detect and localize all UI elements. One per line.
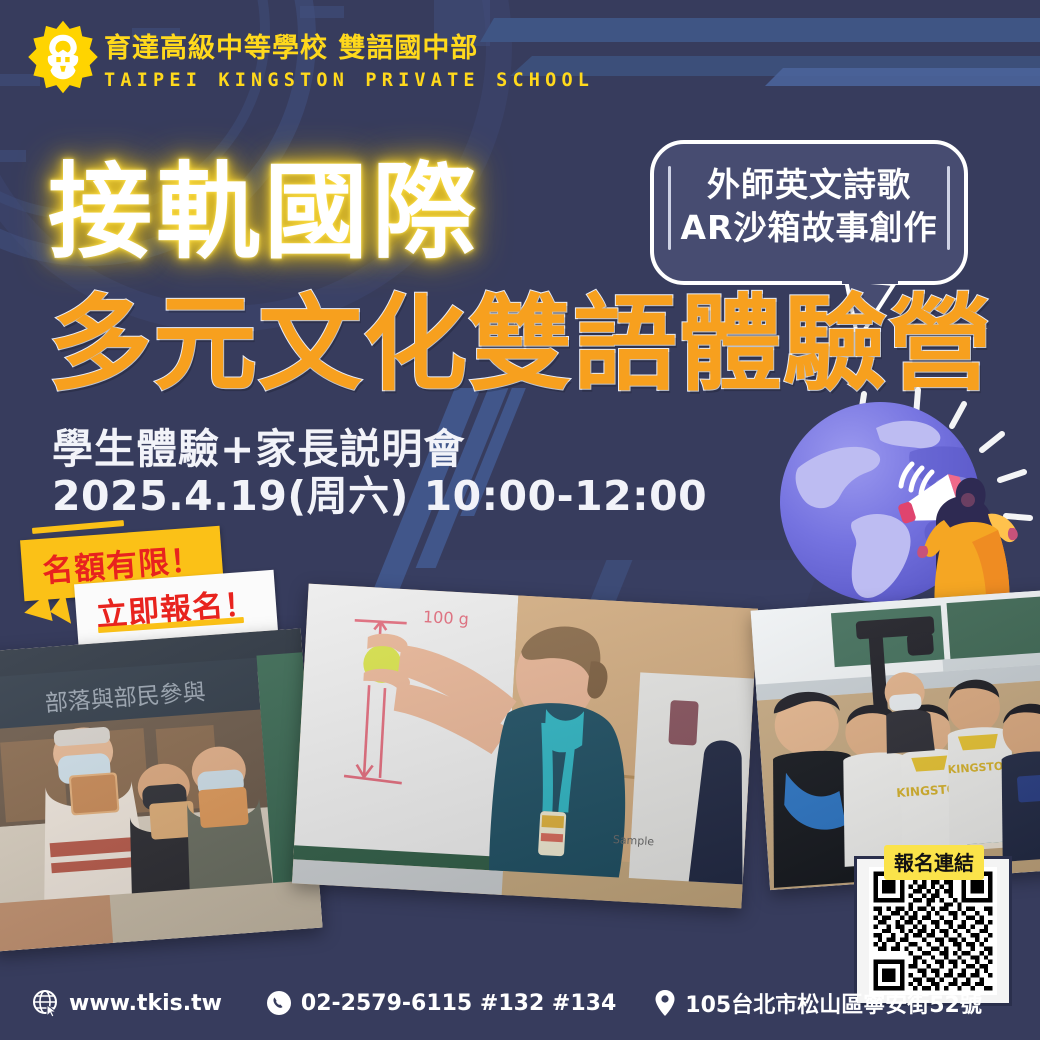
lion-crest-icon	[26, 20, 100, 94]
page-title-main: 接軌國際	[48, 160, 480, 264]
phone-icon	[266, 990, 292, 1016]
photo-foreign-teacher-science-demo: 100 g	[292, 584, 758, 909]
footer-contact-bar: www.tkis.tw 02-2579-6115 #132 #134 105台北…	[0, 966, 1040, 1040]
event-datetime-line: 2025.4.19(周六) 10:00-12:00	[52, 462, 707, 522]
footer-address-text: 105台北市松山區寧安街52號	[685, 987, 982, 1019]
footer-website[interactable]: www.tkis.tw	[32, 989, 222, 1017]
feature-callout-bubble: 外師英文詩歌 AR沙箱故事創作	[650, 140, 968, 285]
school-name-en: TAIPEI KINGSTON PRIVATE SCHOOL	[104, 70, 594, 91]
bg-dash-decor	[0, 150, 26, 162]
globe-icon	[32, 989, 60, 1017]
footer-phone[interactable]: 02-2579-6115 #132 #134	[266, 990, 616, 1016]
poster-canvas: 育達高級中等學校 雙語國中部 TAIPEI KINGSTON PRIVATE S…	[0, 0, 1040, 1040]
footer-phone-text: 02-2579-6115 #132 #134	[301, 991, 616, 1016]
bubble-line-2: AR沙箱故事創作	[654, 207, 964, 250]
bg-dash-decor	[300, 6, 344, 18]
footer-address[interactable]: 105台北市松山區寧安街52號	[654, 987, 982, 1019]
photo-indigenous-culture-activity: 部落與部民參與	[0, 628, 323, 951]
school-name-cn: 育達高級中等學校 雙語國中部	[104, 26, 594, 65]
bubble-line-1: 外師英文詩歌	[654, 164, 964, 207]
qr-label-badge: 報名連結	[884, 845, 984, 880]
bg-bar-decor	[765, 68, 1040, 86]
footer-website-text: www.tkis.tw	[69, 991, 222, 1016]
location-pin-icon	[654, 989, 676, 1017]
brand-block: 育達高級中等學校 雙語國中部 TAIPEI KINGSTON PRIVATE S…	[104, 26, 594, 91]
